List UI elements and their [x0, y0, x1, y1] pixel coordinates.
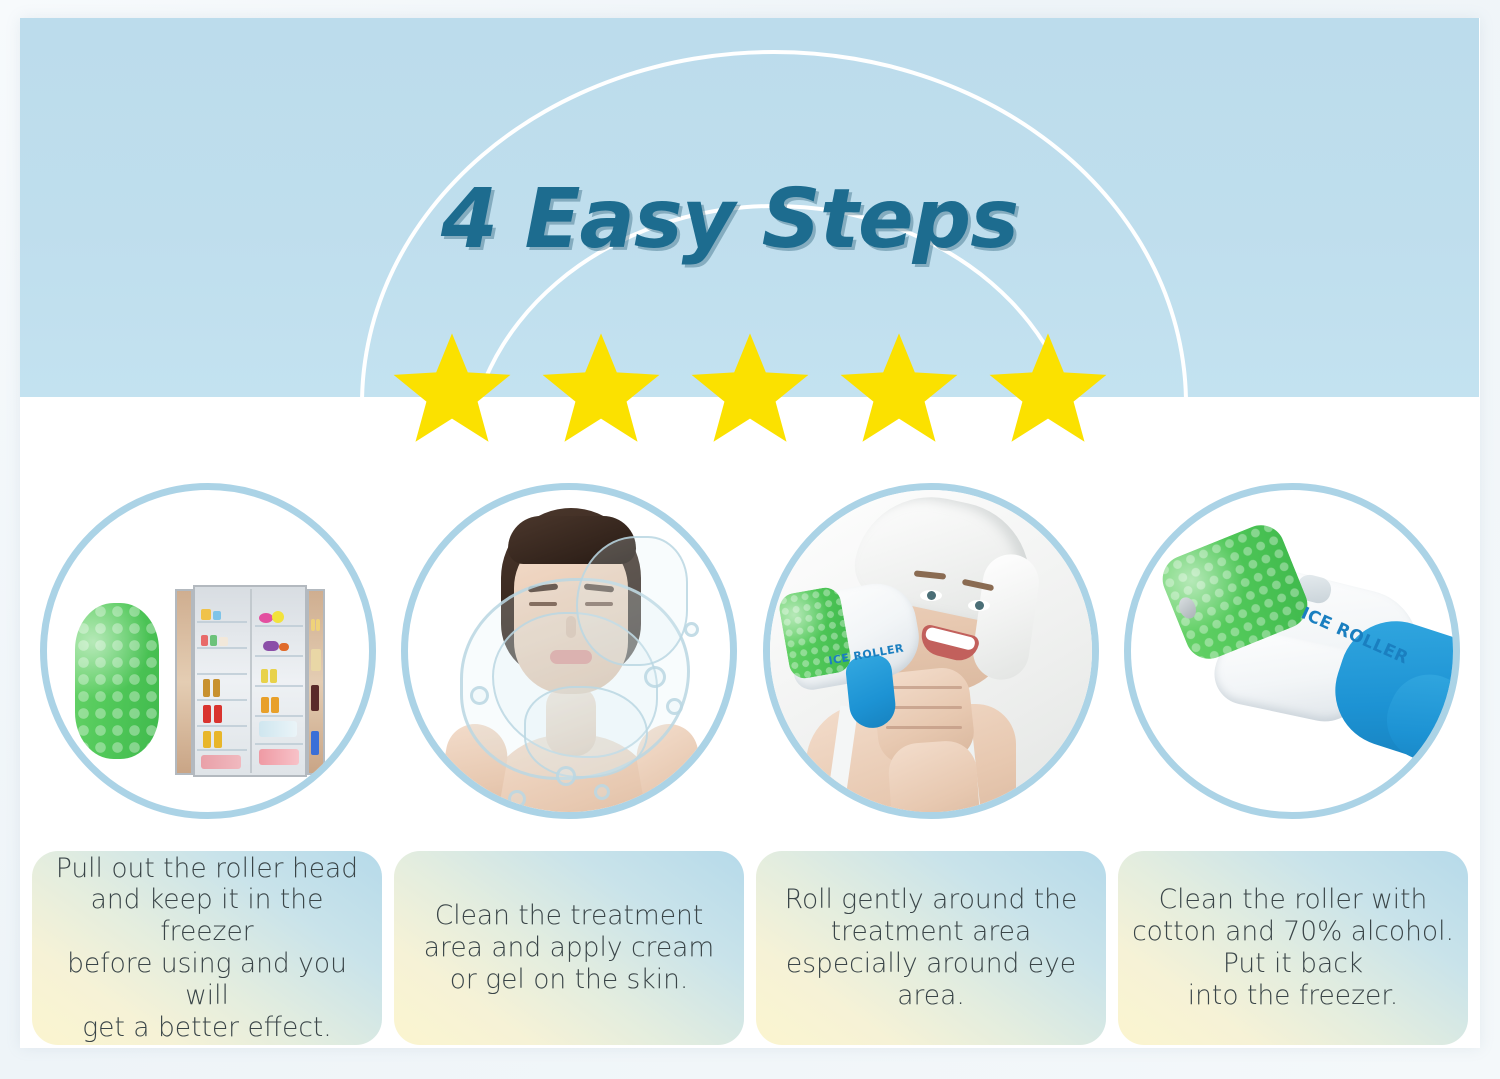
step-3-caption-box: Roll gently around the treatment area es… — [756, 851, 1106, 1045]
woman-using-roller-art: ICE ROLLER — [770, 490, 1092, 812]
step-4-caption-text: Clean the roller with cotton and 70% alc… — [1132, 884, 1454, 1011]
step-4-image: ICE ROLLER — [1124, 483, 1460, 819]
step-1-caption-text: Pull out the roller head and keep it in … — [44, 853, 370, 1044]
ice-roller-product-art: ICE ROLLER — [1131, 490, 1453, 812]
refrigerator-icon — [175, 585, 325, 777]
roller-head-and-fridge-art — [47, 490, 369, 812]
step-3-image: ICE ROLLER — [763, 483, 1099, 819]
step-2-caption-text: Clean the treatment area and apply cream… — [424, 900, 714, 995]
step-2-circle-frame — [401, 483, 737, 819]
step-3-caption-text: Roll gently around the treatment area es… — [785, 884, 1078, 1011]
infographic-page: 4 Easy Steps — [0, 0, 1500, 1079]
step-4-circle-frame: ICE ROLLER — [1124, 483, 1460, 819]
step-1-circle-frame — [40, 483, 376, 819]
step-2-caption-box: Clean the treatment area and apply cream… — [394, 851, 744, 1045]
step-1-caption-box: Pull out the roller head and keep it in … — [32, 851, 382, 1045]
page-title: 4 Easy Steps — [0, 172, 1459, 267]
woman-washing-face-art — [408, 490, 730, 812]
step-2-image — [401, 483, 737, 819]
step-images-row: ICE ROLLER — [20, 483, 1480, 825]
step-captions-row: Pull out the roller head and keep it in … — [20, 851, 1480, 1047]
step-1-image — [40, 483, 376, 819]
step-4-caption-box: Clean the roller with cotton and 70% alc… — [1118, 851, 1468, 1045]
step-3-circle-frame: ICE ROLLER — [763, 483, 1099, 819]
roller-head-icon — [75, 603, 159, 759]
